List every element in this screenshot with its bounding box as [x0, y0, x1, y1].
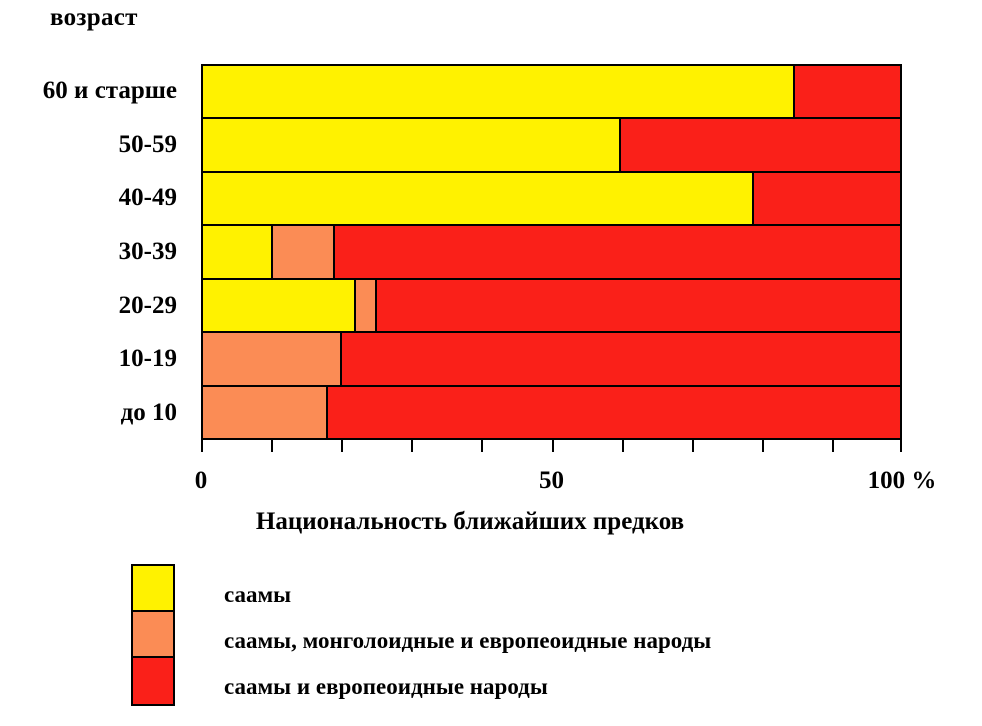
bar-segment — [328, 387, 900, 438]
x-axis-tick-label: 50 — [539, 467, 564, 495]
bar-segment — [203, 333, 342, 384]
x-axis-tick — [481, 440, 483, 452]
bar-segment — [754, 173, 900, 224]
bar-segment — [203, 119, 621, 170]
bar-segment — [273, 226, 336, 277]
bar-segment — [377, 280, 900, 331]
x-axis-tick — [271, 440, 273, 452]
bar-row — [203, 387, 900, 438]
y-axis-tick-label: 50-59 — [0, 118, 190, 172]
x-axis-tick — [552, 440, 554, 452]
y-axis-tick-label: до 10 — [0, 386, 190, 440]
bar-row — [203, 173, 900, 226]
x-axis-tick — [411, 440, 413, 452]
x-axis-tick — [832, 440, 834, 452]
y-axis-tick-label: 60 и старше — [0, 64, 190, 118]
bar-row — [203, 333, 900, 386]
bar-segment — [342, 333, 900, 384]
bar-row — [203, 119, 900, 172]
y-axis-title: возраст — [50, 4, 138, 32]
legend-item-label: саамы, монголоидные и европеоидные народ… — [224, 629, 711, 652]
bar-segment — [795, 66, 900, 117]
bar-segment — [203, 280, 356, 331]
legend-item-label: саамы — [224, 583, 291, 606]
x-axis-tick-label: 100 % — [868, 467, 937, 495]
y-axis-tick-label: 30-39 — [0, 225, 190, 279]
bar-segment — [335, 226, 900, 277]
bar-row — [203, 66, 900, 119]
y-axis-tick-labels: 60 и старше50-5940-4930-3920-2910-19до 1… — [0, 64, 190, 440]
legend-item: саамы, монголоидные и европеоидные народ… — [131, 610, 931, 656]
x-axis-tick — [900, 440, 902, 452]
bar-row — [203, 280, 900, 333]
bar-row — [203, 226, 900, 279]
bar-segment — [621, 119, 900, 170]
y-axis-tick-label: 20-29 — [0, 279, 190, 333]
bars-container — [203, 66, 900, 438]
x-axis-tick — [341, 440, 343, 452]
bar-segment — [203, 226, 273, 277]
y-axis-tick-label: 40-49 — [0, 171, 190, 225]
plot-area — [201, 64, 902, 440]
y-axis-tick-label: 10-19 — [0, 333, 190, 387]
x-axis-tick — [201, 440, 203, 452]
x-axis-tick — [692, 440, 694, 452]
legend-item-label: саамы и европеоидные народы — [224, 675, 548, 698]
legend-item: саамы — [131, 564, 931, 610]
stacked-bar-chart: возраст 60 и старше50-5940-4930-3920-291… — [0, 0, 982, 726]
x-axis-tick-label: 0 — [195, 467, 208, 495]
x-axis-title: Национальность ближайших предков — [0, 508, 940, 536]
bar-segment — [203, 66, 795, 117]
x-axis-tick — [762, 440, 764, 452]
x-axis-tick — [622, 440, 624, 452]
bar-segment — [203, 387, 328, 438]
x-axis-ticks — [201, 440, 902, 452]
legend-item: саамы и европеоидные народы — [131, 656, 931, 702]
bar-segment — [356, 280, 377, 331]
legend-label-column: саамысаамы, монголоидные и европеоидные … — [131, 564, 931, 702]
bar-segment — [203, 173, 754, 224]
